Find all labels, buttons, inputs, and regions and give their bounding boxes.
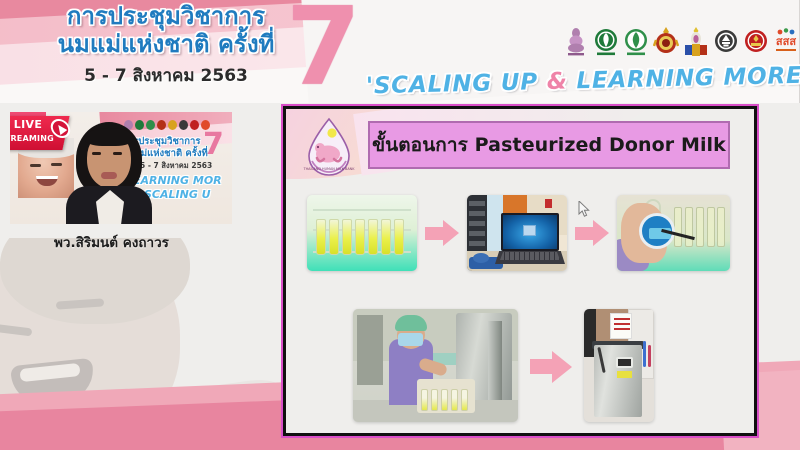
screenshot-root: การประชุมวิชาการ นมแม่แห่งชาติ ครั้งที่ … [0,0,800,450]
event-title-line2: นมแม่แห่งชาติ ครั้งที่ [26,32,306,58]
streaming-label: STREAMING [10,134,54,143]
thumb-slogan-line2: SCALING U [144,188,232,201]
university-seal-logo [713,27,739,57]
live-label: LIVE [14,118,42,131]
thumb-speaker-video [66,120,152,224]
slogan-prefix: 'SCALING UP [366,69,547,99]
process-arrow-1 [425,218,459,248]
slide-title-text: ขั้นตอนการ Pasteurized Donor Milk [372,130,726,160]
nurse-loading-pasteurizer-photo [353,309,518,422]
mouse-pointer [578,201,590,222]
royal-patronage-logo [563,27,589,57]
process-arrow-3 [530,348,572,384]
thermometer-check-photo [617,195,730,271]
sponsor-logos-row: สสส [563,27,799,57]
laptop-recording-photo [467,195,567,271]
milk-bottles-rack-photo [307,195,417,271]
slide-title-box: ขั้นตอนการ Pasteurized Donor Milk [368,121,730,169]
pasteurizer-machine-photo [584,309,654,422]
thumb-edition-number: 7 [203,130,224,160]
process-row-1 [307,195,730,271]
live-stream-video-thumbnail[interactable]: การประชุมวิชาการ นมแม่แห่งชาติ ครั้งที่ … [10,112,232,224]
process-row-2 [353,309,654,422]
human-milk-bank-logo: THAILAND HUMAN MILK BANK [298,117,360,183]
red-crest-logo [743,27,769,57]
event-date: 5 - 7 สิงหาคม 2563 [26,62,306,89]
event-title-line1: การประชุมวิชาการ [26,4,306,30]
department-health-logo [623,27,649,57]
svg-text:สสส: สสส [776,35,796,48]
thai-flag-emblem-logo [683,27,709,57]
event-title: การประชุมวิชาการ นมแม่แห่งชาติ ครั้งที่ … [26,4,306,89]
ministry-public-health-logo [593,27,619,57]
presentation-slide-panel: THAILAND HUMAN MILK BANK ขั้นตอนการ Past… [283,106,757,436]
slogan-suffix: LEARNING MORE' [567,63,800,95]
svg-text:THAILAND HUMAN MILK BANK: THAILAND HUMAN MILK BANK [303,167,356,171]
event-header-banner: การประชุมวิชาการ นมแม่แห่งชาติ ครั้งที่ … [0,0,800,103]
speaker-name: พว.สิริมนต์ คงถาวร [54,231,169,253]
slogan-ampersand: & [546,69,567,96]
royal-crest-logo [653,27,679,57]
thaihealth-sss-logo: สสส [773,27,799,57]
process-arrow-2 [575,218,609,248]
